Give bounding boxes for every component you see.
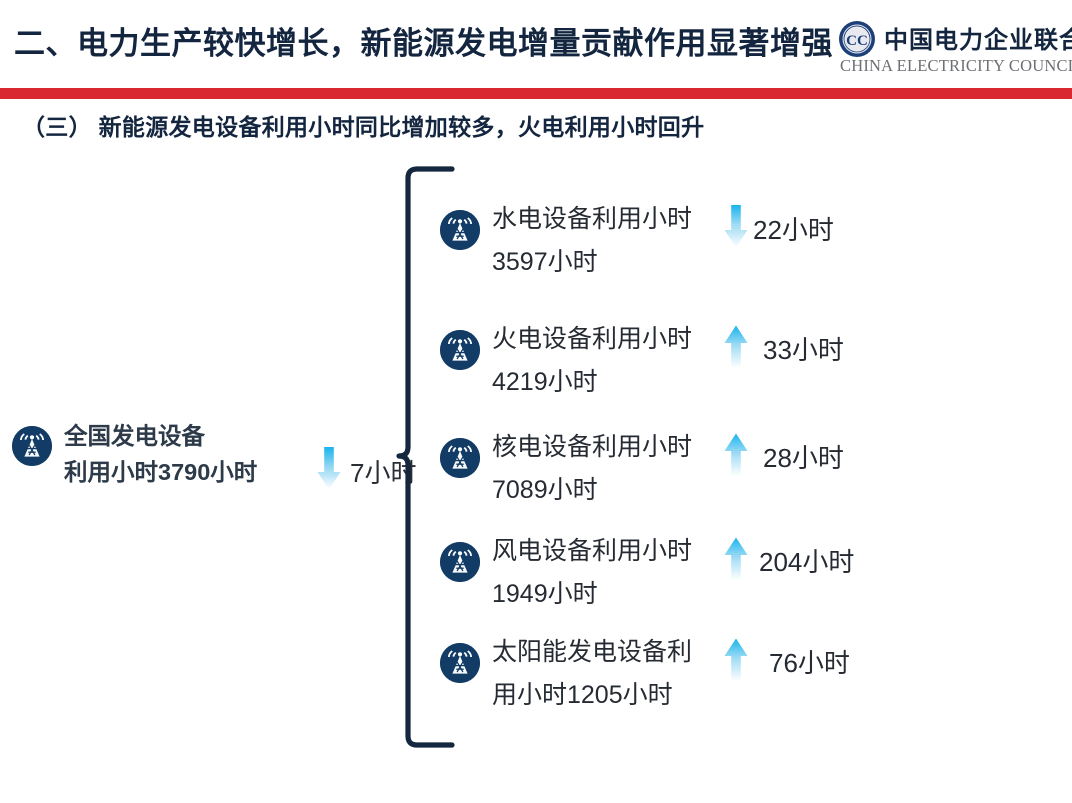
power-tower-icon — [440, 542, 480, 582]
branch-label: 水电设备利用小时 3597小时 — [492, 198, 724, 284]
power-tower-icon — [440, 438, 480, 478]
branch-label-line2: 4219小时 — [492, 361, 724, 404]
branch-label-line2: 7089小时 — [492, 469, 724, 512]
header-accent-bar — [0, 88, 1072, 99]
branch-label-line2: 1949小时 — [492, 573, 724, 616]
power-tower-icon — [440, 643, 480, 683]
branch-label: 风电设备利用小时 1949小时 — [492, 530, 724, 616]
arrow-down-icon — [723, 204, 749, 250]
brand-lockup: CC 中国电力企业联合会 CHINA ELECTRICITY COUNCIL — [838, 18, 1066, 82]
power-tower-icon — [440, 210, 480, 250]
arrow-up-icon — [723, 432, 749, 478]
branch-node-solar[interactable]: 太阳能发电设备利 用小时1205小时 — [440, 631, 910, 727]
page-title: 二、电力生产较快增长，新能源发电增量贡献作用显著增强 — [14, 22, 824, 66]
cec-seal-icon: CC — [838, 20, 876, 58]
branch-label-line1: 核电设备利用小时 — [492, 426, 724, 469]
root-node-line2: 利用小时3790小时 — [64, 454, 304, 490]
root-node-line1: 全国发电设备 — [64, 418, 304, 454]
branch-label: 火电设备利用小时 4219小时 — [492, 318, 724, 404]
branch-delta-value: 33小时 — [763, 330, 844, 367]
root-node-label: 全国发电设备 利用小时3790小时 — [64, 418, 304, 490]
branch-delta-value: 76小时 — [769, 643, 850, 680]
branch-label-line2: 3597小时 — [492, 241, 724, 284]
arrow-up-icon — [723, 536, 749, 582]
branch-trend: 28小时 — [723, 432, 913, 482]
section-subtitle: （三） 新能源发电设备利用小时同比增加较多，火电利用小时回升 — [22, 108, 704, 142]
branch-delta-value: 22小时 — [753, 210, 834, 247]
power-tower-icon — [12, 426, 52, 466]
branch-trend: 76小时 — [723, 637, 913, 687]
branch-delta-value: 28小时 — [763, 438, 844, 475]
branch-delta-value: 204小时 — [759, 542, 854, 579]
arrow-up-icon — [723, 637, 749, 683]
branch-label: 核电设备利用小时 7089小时 — [492, 426, 724, 512]
arrow-up-icon — [723, 324, 749, 370]
branch-label-line1: 火电设备利用小时 — [492, 318, 724, 361]
branch-trend: 33小时 — [723, 324, 913, 374]
branch-label-line1: 太阳能发电设备利 — [492, 631, 724, 674]
brand-name-en: CHINA ELECTRICITY COUNCIL — [840, 56, 1072, 76]
branch-label-line1: 水电设备利用小时 — [492, 198, 724, 241]
branch-trend: 22小时 — [723, 204, 913, 254]
svg-text:CC: CC — [846, 33, 868, 49]
slide-header: 二、电力生产较快增长，新能源发电增量贡献作用显著增强 CC 中国电力企业联合会 … — [0, 0, 1072, 88]
power-tower-icon — [440, 330, 480, 370]
branch-node-wind[interactable]: 风电设备利用小时 1949小时 — [440, 530, 910, 626]
branch-label-line1: 风电设备利用小时 — [492, 530, 724, 573]
branch-node-hydro[interactable]: 水电设备利用小时 3597小时 — [440, 198, 910, 294]
brand-name-cn: 中国电力企业联合会 — [884, 20, 1072, 55]
branch-label-line2: 用小时1205小时 — [492, 674, 724, 717]
branch-node-thermal[interactable]: 火电设备利用小时 4219小时 — [440, 318, 910, 414]
branch-node-nuclear[interactable]: 核电设备利用小时 7089小时 — [440, 426, 910, 522]
slide-canvas: 二、电力生产较快增长，新能源发电增量贡献作用显著增强 CC 中国电力企业联合会 … — [0, 0, 1072, 803]
mindmap-diagram: 全国发电设备 利用小时3790小时 — [0, 150, 1072, 770]
branch-trend: 204小时 — [723, 536, 913, 586]
arrow-down-icon — [316, 446, 342, 492]
root-node[interactable]: 全国发电设备 利用小时3790小时 — [12, 418, 412, 518]
branch-label: 太阳能发电设备利 用小时1205小时 — [492, 631, 724, 717]
